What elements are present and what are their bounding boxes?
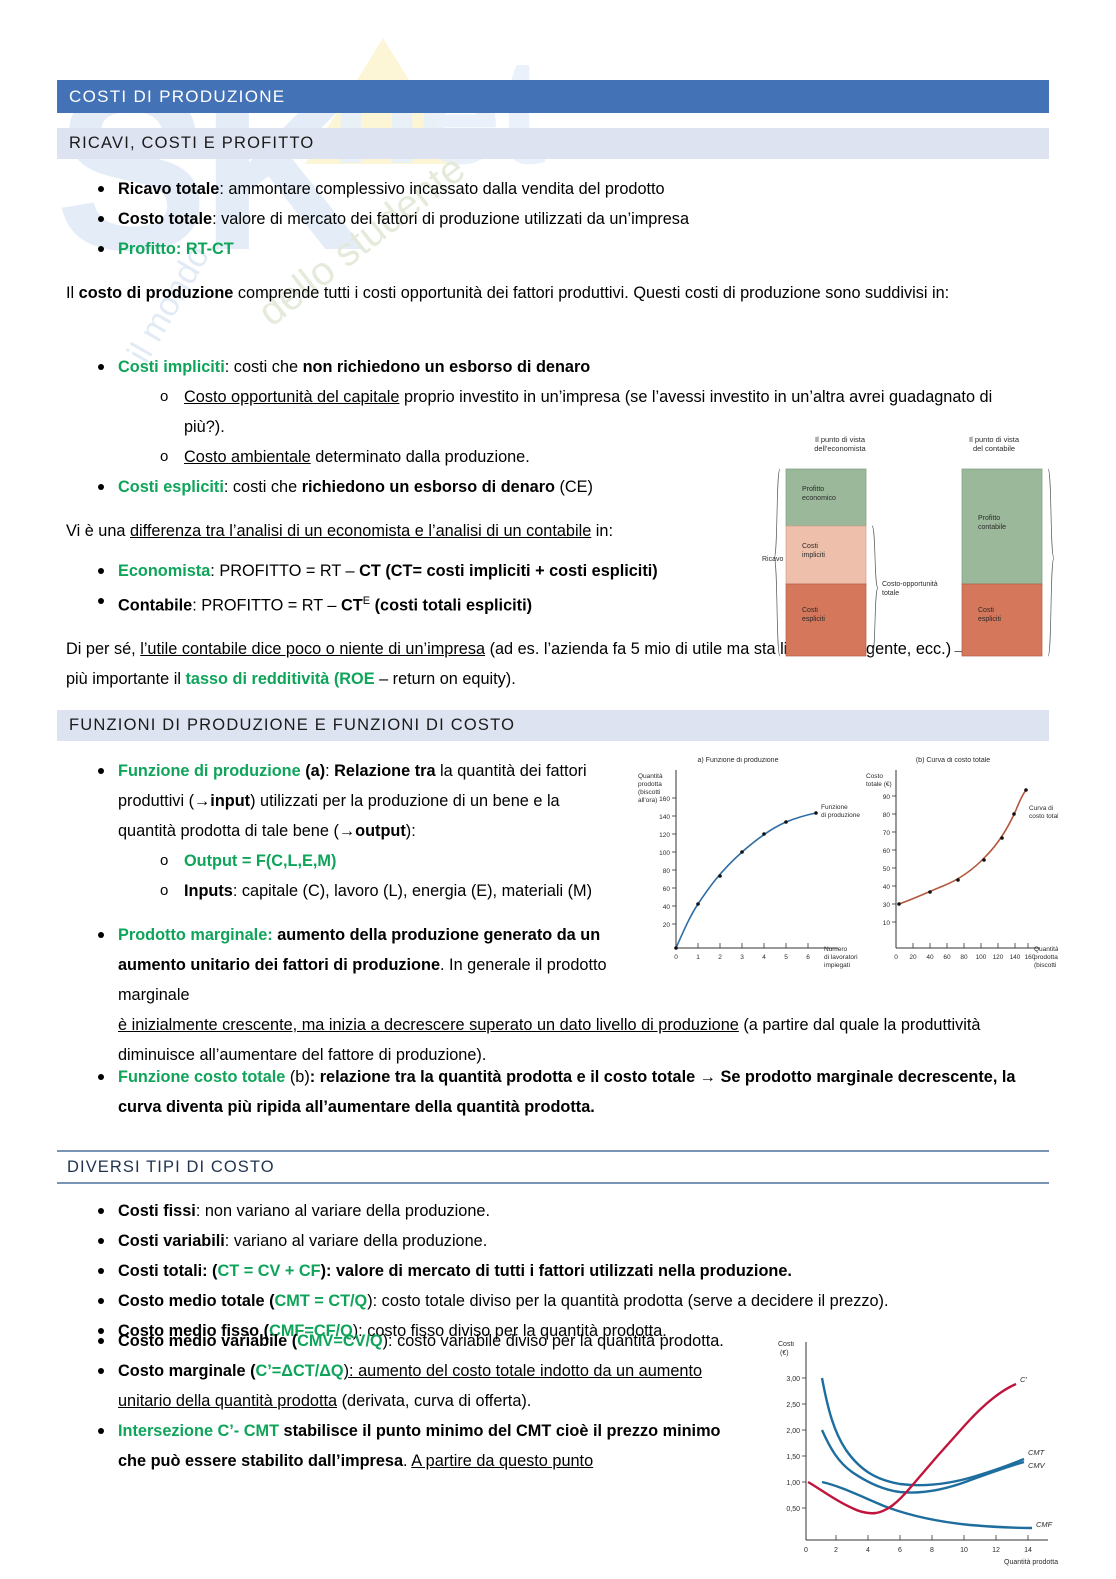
chart-c-curve-cmarginale — [808, 1384, 1016, 1513]
chart-c-label-cmarginale: C' — [1020, 1375, 1027, 1384]
figure-title-right-2: del contabile — [973, 444, 1015, 453]
chart-b-annotation-1: Curva di — [1029, 805, 1053, 812]
chart-c-xlabel: Quantità prodotta — [1004, 1559, 1058, 1566]
paragraph-highlight: tasso di redditività (ROE — [185, 670, 374, 688]
bullet-text: ): costo variabile diviso per la quantit… — [383, 1332, 724, 1350]
figure-title-right: Il punto di vista — [969, 435, 1020, 444]
svg-text:8: 8 — [930, 1547, 934, 1554]
bullet-formula: CMV=CV/Q — [297, 1332, 383, 1350]
svg-text:14: 14 — [1024, 1547, 1032, 1554]
bullet-term-highlight: Funzione costo totale — [118, 1068, 285, 1086]
svg-text:160: 160 — [659, 796, 670, 803]
sub-bullet-term: Costo opportunità del capitale — [184, 388, 399, 406]
svg-text:2: 2 — [834, 1547, 838, 1554]
figure-label-costo-opportunita: Costo-opportunità — [882, 581, 938, 588]
document-title-bar: COSTI DI PRODUZIONE — [57, 80, 1049, 113]
bar-label-costi-espliciti-r: Costi — [978, 607, 994, 614]
chart-c-xticklabels: 024 6810 1214 — [804, 1547, 1032, 1554]
bullet-text-tail: (CE) — [555, 478, 593, 496]
bullet-list-ricavi: Ricavo totale: ammontare complessivo inc… — [92, 174, 992, 264]
svg-text:40: 40 — [883, 884, 891, 891]
list-item: Costo marginale (C’=ΔCT/ΔQ): aumento del… — [92, 1356, 752, 1416]
brace-costo-opportunita — [872, 526, 878, 656]
bullet-text-a: : — [325, 762, 334, 780]
list-item: Ricavo totale: ammontare complessivo inc… — [92, 174, 992, 204]
svg-text:70: 70 — [883, 830, 891, 837]
bullet-term: Costi variabili — [118, 1232, 225, 1250]
svg-text:0: 0 — [804, 1547, 808, 1554]
svg-text:140: 140 — [1010, 954, 1021, 961]
bullet-term-highlight: Profitto: RT-CT — [118, 240, 234, 258]
bullet-term-highlight: Funzione di produzione — [118, 762, 301, 780]
bar-segment-costi-espliciti-left — [786, 584, 866, 656]
svg-text:30: 30 — [883, 902, 891, 909]
sub-list-item: Inputs: capitale (C), lavoro (L), energi… — [158, 876, 622, 906]
svg-text:1: 1 — [696, 954, 700, 961]
bullet-emphasis-a: (a) — [301, 762, 325, 780]
chart-a-yticks — [672, 798, 676, 924]
chart-c-curve-cmv — [822, 1430, 1024, 1493]
chart-a-xlabel-3: impiegati — [824, 962, 850, 969]
svg-text:10: 10 — [883, 920, 891, 927]
chart-a-xlabel-1: Numero — [824, 946, 848, 953]
bullet-emphasis-a: : relazione tra la quantità prodotta e i… — [310, 1068, 700, 1086]
bullet-term-highlight: Prodotto marginale: — [118, 926, 273, 944]
sub-bullet-formula: Output = F(C,L,E,M) — [184, 852, 336, 870]
chart-c-label-cmt: CMT — [1028, 1448, 1046, 1457]
bullet-list-funzione-produzione: Funzione di produzione (a): Relazione tr… — [92, 756, 622, 906]
figure-curve-di-costo: Costi (€) 3,002,502,00 1,501,000,50 024 — [764, 1328, 1064, 1576]
chart-a-xlabel-2: di lavoratori — [824, 954, 858, 961]
chart-a-xticks — [698, 943, 808, 948]
chart-b-annotation-2: costo totale — [1029, 813, 1058, 820]
bullet-formula: CMT = CT/Q — [275, 1292, 368, 1310]
svg-text:0: 0 — [894, 954, 898, 961]
bar-label-costi-espliciti-2: espliciti — [802, 616, 825, 623]
figure-label-costo-opportunita-2: totale — [882, 590, 899, 597]
bar-label-profitto-economico: Profitto — [802, 486, 824, 493]
bullet-emphasis: richiedono un esborso di denaro — [302, 478, 555, 496]
svg-text:140: 140 — [659, 814, 670, 821]
bullet-list-tipi-di-costo-cont: Costo medio variabile (CMV=CV/Q): costo … — [92, 1326, 752, 1476]
svg-text:2: 2 — [718, 954, 722, 961]
chart-a-ylabel-2: prodotta — [638, 781, 662, 788]
svg-text:3,00: 3,00 — [786, 1376, 800, 1383]
chart-b-ylabel-2: totale (€) — [866, 781, 892, 788]
svg-text:12: 12 — [992, 1547, 1000, 1554]
svg-text:5: 5 — [784, 954, 788, 961]
sub-bullet-term: Inputs — [184, 882, 233, 900]
list-item: Profitto: RT-CT — [92, 234, 992, 264]
bullet-formula: C’=ΔCT/ΔQ — [256, 1362, 344, 1380]
svg-text:10: 10 — [960, 1547, 968, 1554]
svg-text:60: 60 — [883, 848, 891, 855]
arrow-glyph: → — [700, 1068, 716, 1086]
svg-text:20: 20 — [909, 954, 917, 961]
paragraph-prodotto-marginale-cont: è inizialmente crescente, ma inizia a de… — [118, 1010, 1023, 1070]
chart-a-annotation-1: Funzione — [821, 804, 848, 811]
list-item: Costo totale: valore di mercato dei fatt… — [92, 204, 992, 234]
sub-bullet-list: Output = F(C,L,E,M) Inputs: capitale (C)… — [118, 846, 622, 906]
svg-text:100: 100 — [976, 954, 987, 961]
section-header-diversi-tipi: DIVERSI TIPI DI COSTO — [57, 1150, 1049, 1184]
list-item: Funzione di produzione (a): Relazione tr… — [92, 756, 622, 906]
paragraph-differenza-analisi: Vi è una differenza tra l’analisi di un … — [66, 516, 766, 546]
svg-text:80: 80 — [663, 868, 671, 875]
svg-text:0: 0 — [674, 954, 678, 961]
chart-c-yticklabels: 3,002,502,00 1,501,000,50 — [786, 1376, 800, 1513]
bullet-emphasis-b: Relazione tra — [334, 762, 435, 780]
svg-text:4: 4 — [762, 954, 766, 961]
sub-bullet-text: determinato dalla produzione. — [311, 448, 530, 466]
svg-text:90: 90 — [883, 794, 891, 801]
figure-title-left: Il punto di vista — [815, 435, 866, 444]
chart-b-title: (b) Curva di costo totale — [916, 757, 990, 764]
bullet-term-highlight: Economista — [118, 562, 210, 580]
chart-c-xticks — [836, 1535, 1028, 1540]
bullet-term: Costi totali: ( — [118, 1262, 217, 1280]
svg-text:60: 60 — [943, 954, 951, 961]
svg-text:20: 20 — [663, 922, 671, 929]
svg-text:1,50: 1,50 — [786, 1454, 800, 1461]
bullet-emphasis: non richiedono un esborso di denaro — [303, 358, 591, 376]
paragraph-text-cont: comprende tutti i costi opportunità dei … — [233, 284, 949, 302]
bullet-emphasis-tail: (costi totali espliciti) — [370, 596, 532, 614]
bar-segment-costi-impliciti — [786, 526, 866, 584]
chart-c-label-cmv: CMV — [1028, 1461, 1046, 1470]
paragraph-underline: l’utile contabile dice poco o niente di … — [140, 640, 485, 658]
svg-text:120: 120 — [993, 954, 1004, 961]
bullet-text: : PROFITTO = RT – — [192, 596, 341, 614]
svg-text:2,50: 2,50 — [786, 1402, 800, 1409]
chart-b-xlabel-3: (biscotti all'ora) — [1034, 962, 1058, 969]
chart-c-curve-cmf — [822, 1482, 1032, 1528]
svg-text:2,00: 2,00 — [786, 1428, 800, 1435]
list-item: Funzione costo totale (b): relazione tra… — [92, 1062, 1017, 1122]
bullet-text-d: ): — [406, 822, 416, 840]
bullet-superscript: E — [363, 595, 370, 607]
paragraph-text: Di per sé, — [66, 640, 140, 658]
chart-a-annotation-2: di produzione — [821, 812, 860, 819]
sub-list-item: Output = F(C,L,E,M) — [158, 846, 622, 876]
bullet-term: Costi fissi — [118, 1202, 196, 1220]
svg-text:0,50: 0,50 — [786, 1506, 800, 1513]
brace-ricavo-right — [1048, 469, 1054, 656]
section-header-funzioni: FUNZIONI DI PRODUZIONE E FUNZIONI DI COS… — [57, 710, 1049, 741]
svg-text:80: 80 — [883, 812, 891, 819]
paragraph-text: Vi è una — [66, 522, 130, 540]
list-item: Contabile: PROFITTO = RT – CTE (costi to… — [92, 586, 792, 620]
chart-b-yticks — [892, 796, 896, 922]
figure-title-left-2: dell'economista — [814, 444, 866, 453]
section-header-ricavi: RICAVI, COSTI E PROFITTO — [57, 128, 1049, 159]
bullet-term: Costo medio variabile ( — [118, 1332, 297, 1350]
bullet-emphasis-d: →output — [339, 822, 406, 840]
paragraph-underline: è inizialmente crescente, ma inizia a de… — [118, 1016, 739, 1034]
list-item: Intersezione C’- CMT stabilisce il punto… — [92, 1416, 752, 1476]
svg-text:40: 40 — [663, 904, 671, 911]
bullet-text: . — [403, 1452, 411, 1470]
chart-a-points — [674, 811, 818, 950]
bar-label-profitto-contabile: Profitto — [978, 515, 1000, 522]
figure-funzione-produzione-costo: a) Funzione di produzione Quantità prodo… — [628, 752, 1058, 987]
bullet-text: : costi che — [224, 478, 302, 496]
bar-label-costi-espliciti: Costi — [802, 607, 818, 614]
chart-c-curve-cmt — [822, 1378, 1024, 1485]
chart-b-yticklabels: 908070 605040 3010 — [883, 794, 891, 927]
svg-text:6: 6 — [806, 954, 810, 961]
bar-segment-costi-espliciti-right — [962, 584, 1042, 656]
bullet-list-funzione-costo-totale: Funzione costo totale (b): relazione tra… — [92, 1062, 1017, 1122]
list-item: Costi fissi: non variano al variare dell… — [92, 1196, 992, 1226]
svg-text:50: 50 — [883, 866, 891, 873]
svg-text:4: 4 — [866, 1547, 870, 1554]
chart-a-ylabel-3: (biscotti — [638, 789, 660, 796]
bar-label-costi-espliciti-r2: espliciti — [978, 616, 1001, 623]
bullet-underline: A partire da questo punto — [411, 1452, 593, 1470]
bullet-text: : non variano al variare della produzion… — [196, 1202, 490, 1220]
list-item: Costo medio totale (CMT = CT/Q): costo t… — [92, 1286, 992, 1316]
svg-text:100: 100 — [659, 850, 670, 857]
list-item: Economista: PROFITTO = RT – CT (CT= cost… — [92, 556, 792, 586]
bullet-term-highlight: Costi impliciti — [118, 358, 225, 376]
paragraph-emphasis: costo di produzione — [79, 284, 234, 302]
section-header-label: RICAVI, COSTI E PROFITTO — [69, 134, 314, 153]
paragraph-text-cont: in: — [591, 522, 613, 540]
chart-c-label-cmf: CMF — [1036, 1520, 1053, 1529]
chart-c-ylabel-1: Costi — [778, 1341, 794, 1348]
chart-b-line — [899, 790, 1026, 904]
list-item: Costi variabili: variano al variare dell… — [92, 1226, 992, 1256]
chart-b-points — [897, 788, 1028, 906]
paragraph-text: Il — [66, 284, 79, 302]
bullet-term: Costo totale — [118, 210, 212, 228]
figure-label-ricavo: Ricavo — [762, 556, 784, 563]
chart-a-line — [676, 813, 816, 948]
chart-b-xlabel-1: Quantità — [1034, 946, 1058, 953]
bar-label-profitto-contabile-2: contabile — [978, 524, 1006, 531]
list-item: Costi totali: (CT = CV + CF): valore di … — [92, 1256, 992, 1286]
sub-bullet-text: : capitale (C), lavoro (L), energia (E),… — [233, 882, 592, 900]
chart-b-xlabel-2: prodotta — [1034, 954, 1058, 961]
list-item: Prodotto marginale: aumento della produz… — [92, 920, 622, 1010]
section-header-label: DIVERSI TIPI DI COSTO — [67, 1158, 275, 1177]
bar-label-costi-impliciti: Costi — [802, 543, 818, 550]
page-title: COSTI DI PRODUZIONE — [69, 87, 285, 107]
bullet-text: ): valore di mercato di tutti i fattori … — [321, 1262, 792, 1280]
bullet-list-economista-contabile: Economista: PROFITTO = RT – CT (CT= cost… — [92, 556, 792, 620]
chart-a-title: a) Funzione di produzione — [698, 757, 779, 764]
bullet-text: : ammontare complessivo incassato dalla … — [219, 180, 664, 198]
bullet-formula: CT = CV + CF — [217, 1262, 320, 1280]
chart-b-xticklabels: 02040 6080100 120140160 — [894, 954, 1036, 961]
chart-b-ylabel-1: Costo — [866, 773, 883, 780]
bullet-text: : costi che — [225, 358, 303, 376]
bullet-text: (b) — [285, 1068, 309, 1086]
list-item: Costo medio variabile (CMV=CV/Q): costo … — [92, 1326, 752, 1356]
bullet-text: : PROFITTO = RT – — [210, 562, 359, 580]
sub-bullet-term: Costo ambientale — [184, 448, 311, 466]
chart-c-yticks — [802, 1378, 806, 1508]
bullet-emphasis-c: →input — [194, 792, 250, 810]
chart-a-yticklabels: 160140120 1008060 4020 — [659, 796, 670, 929]
svg-text:6: 6 — [898, 1547, 902, 1554]
bar-label-profitto-economico-2: economico — [802, 495, 836, 502]
bullet-term-highlight: Intersezione C’- CMT — [118, 1422, 279, 1440]
chart-c-ylabel-2: (€) — [780, 1350, 789, 1357]
bullet-list-prodotto-marginale-head: Prodotto marginale: aumento della produz… — [92, 920, 622, 1010]
chart-a-ylabel-1: Quantità — [638, 773, 663, 780]
bullet-text: ): costo totale diviso per la quantità p… — [367, 1292, 888, 1310]
svg-text:3: 3 — [740, 954, 744, 961]
figure-economista-contabile: Il punto di vista dell'economista Il pun… — [762, 428, 1054, 660]
svg-text:80: 80 — [960, 954, 968, 961]
bullet-term: Costo marginale ( — [118, 1362, 256, 1380]
section-header-label: FUNZIONI DI PRODUZIONE E FUNZIONI DI COS… — [69, 716, 515, 735]
bar-label-costi-impliciti-2: impliciti — [802, 552, 825, 559]
bullet-term-highlight: Costi espliciti — [118, 478, 224, 496]
chart-b-xticks — [913, 943, 1028, 948]
bullet-term: Ricavo totale — [118, 180, 219, 198]
bullet-emphasis: CT — [341, 596, 363, 614]
paragraph-costo-di-produzione: Il costo di produzione comprende tutti i… — [66, 278, 1006, 308]
paragraph-underline: differenza tra l’analisi di un economist… — [130, 522, 591, 540]
chart-a-ylabel-4: all'ora) — [638, 797, 657, 804]
bullet-text: : valore di mercato dei fattori di produ… — [212, 210, 689, 228]
chart-a-xticklabels: 012 3456 — [674, 954, 810, 961]
bullet-term: Costo medio totale ( — [118, 1292, 275, 1310]
bullet-list-tipi-di-costo: Costi fissi: non variano al variare dell… — [92, 1196, 992, 1346]
svg-text:1,00: 1,00 — [786, 1480, 800, 1487]
bullet-term: Contabile — [118, 596, 192, 614]
paragraph-text-tail: – return on equity). — [375, 670, 516, 688]
svg-text:40: 40 — [926, 954, 934, 961]
bullet-text: (derivata, curva di offerta). — [337, 1392, 531, 1410]
svg-text:120: 120 — [659, 832, 670, 839]
svg-text:60: 60 — [663, 886, 671, 893]
bullet-emphasis: CT (CT= costi impliciti + costi esplicit… — [359, 562, 658, 580]
bullet-text: : variano al variare della produzione. — [225, 1232, 487, 1250]
